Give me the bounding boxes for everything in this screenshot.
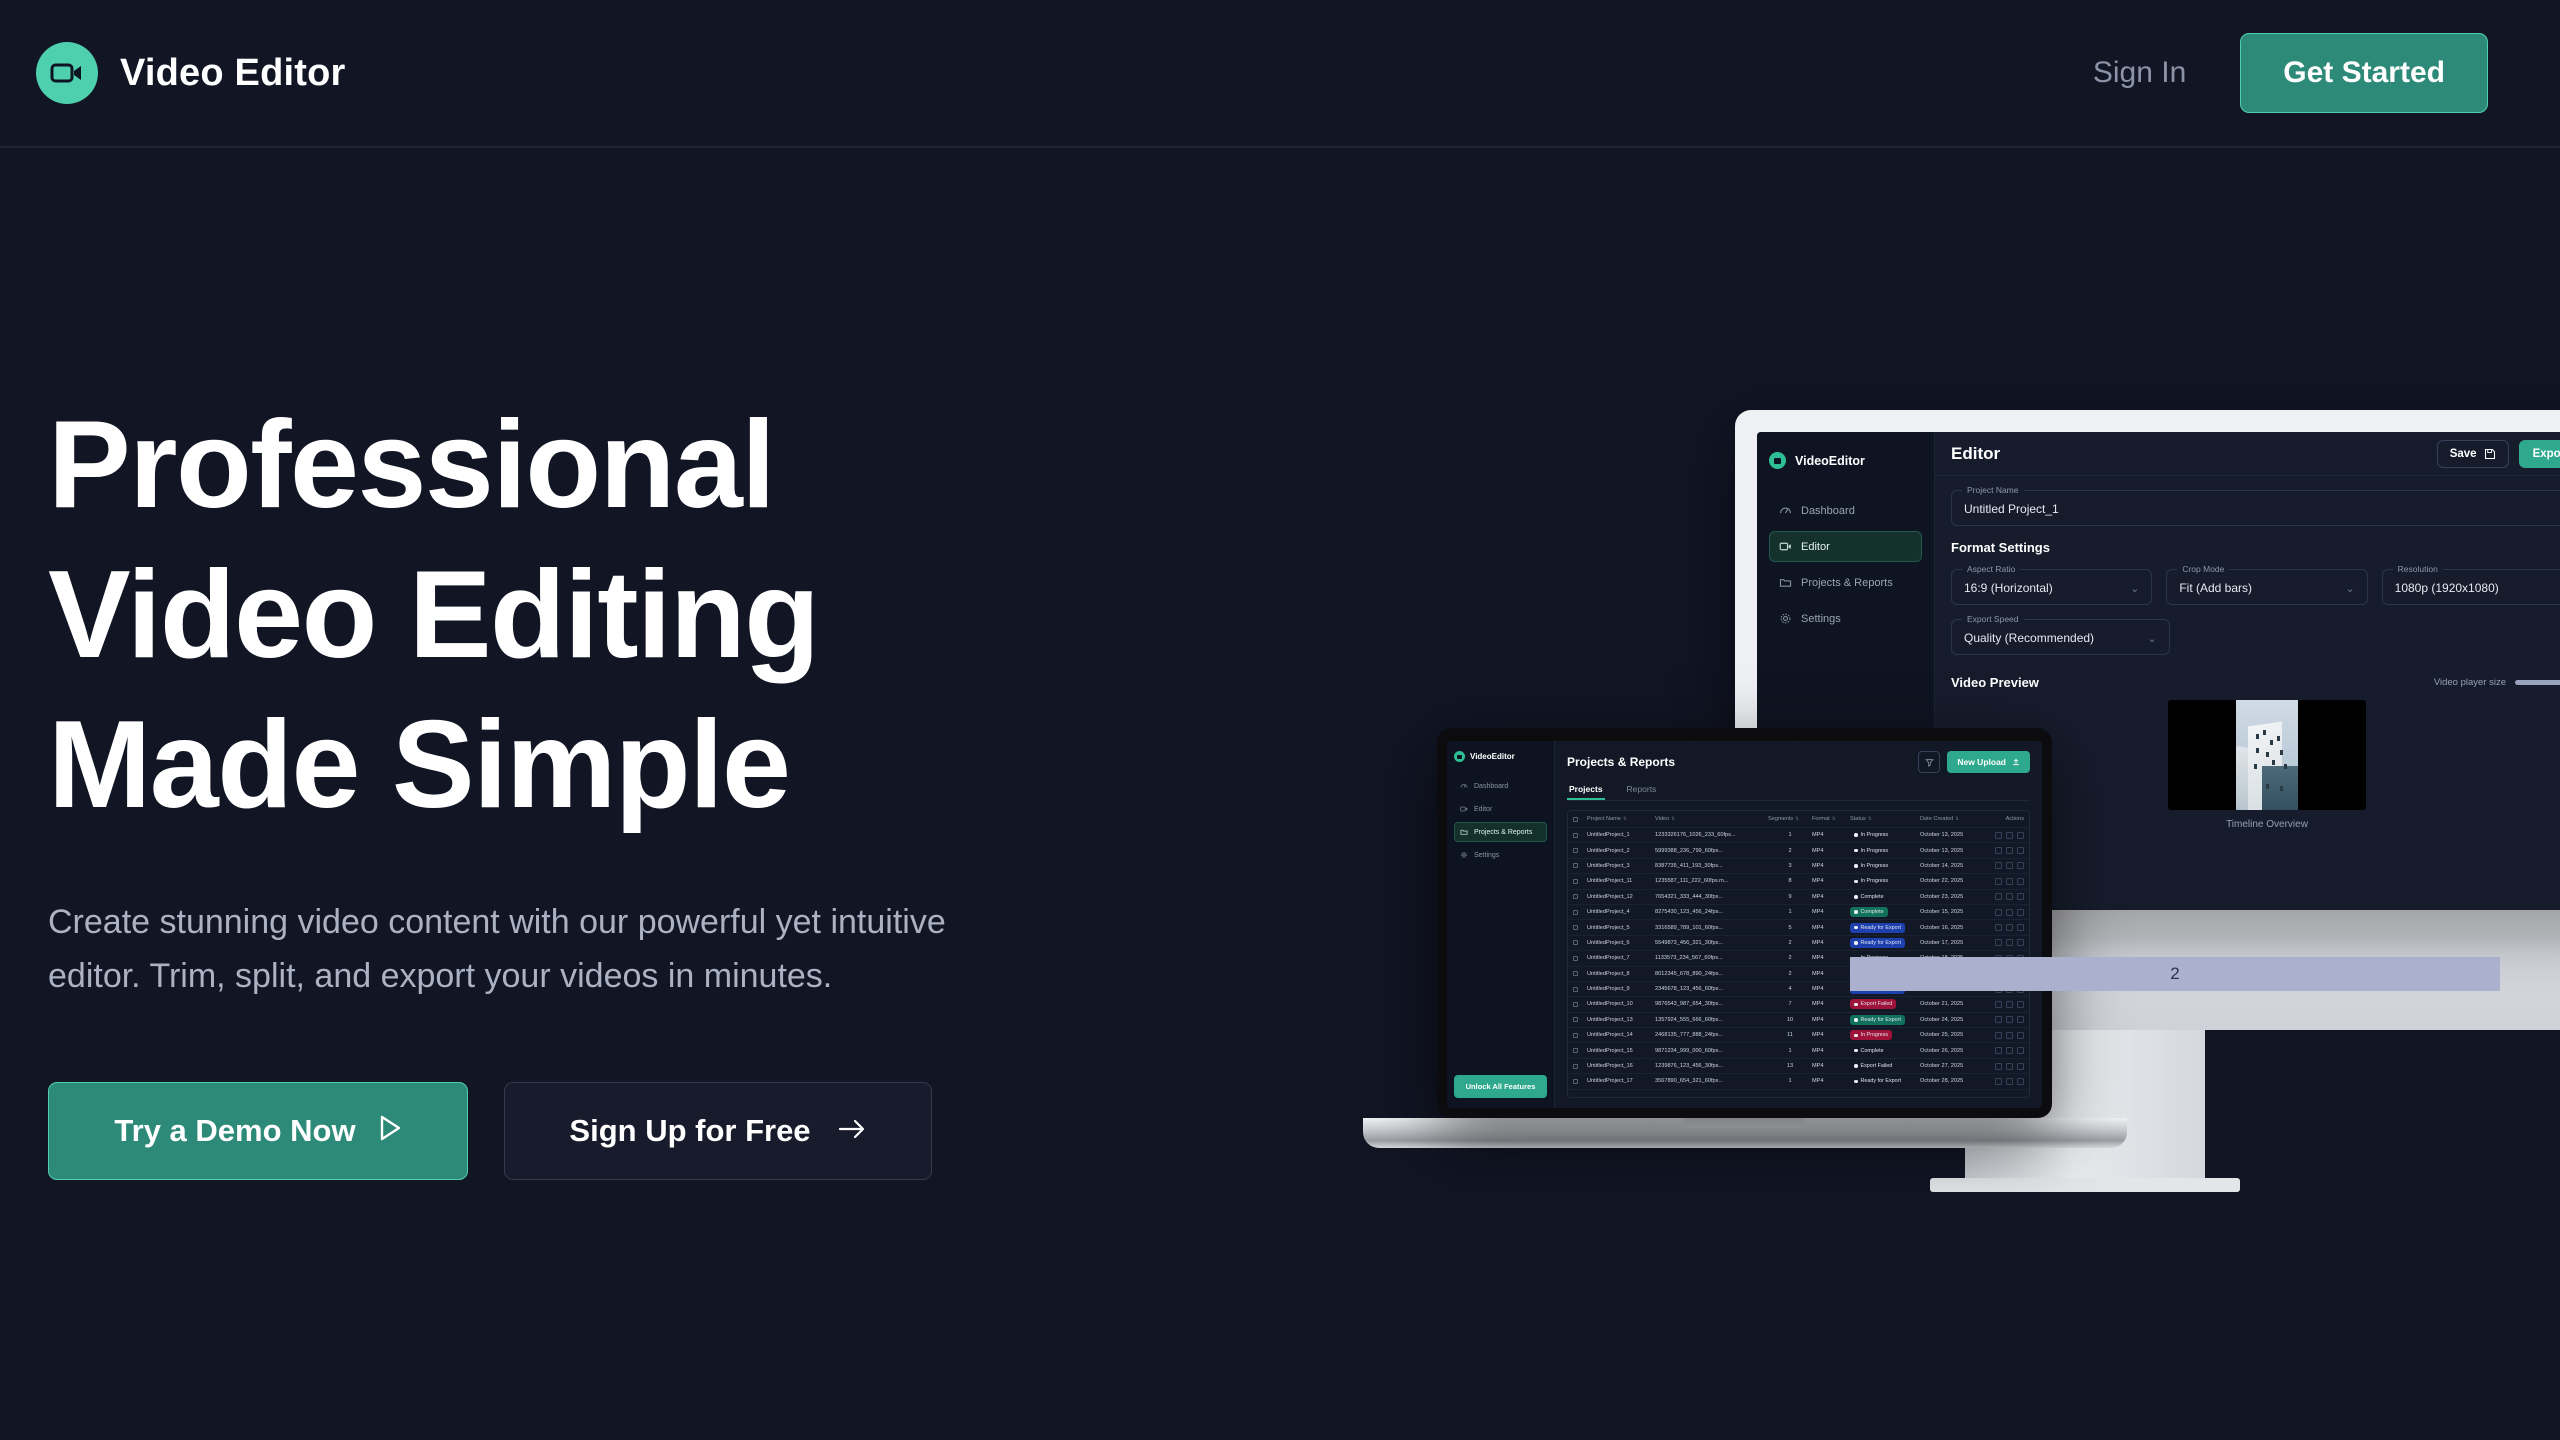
table-row[interactable]: UntitledProject_11233326176_1026_233_60f… — [1568, 828, 2029, 843]
sidebar-label: Projects & Reports — [1801, 577, 1893, 589]
cell-date-created: October 22, 2025 — [1920, 878, 1982, 884]
cell-segments: 2 — [1768, 955, 1812, 961]
aspect-ratio-select[interactable]: Aspect Ratio 16:9 (Horizontal) ⌄ — [1951, 569, 2152, 605]
table-row[interactable]: UntitledProject_173567890_654_321_60fps.… — [1568, 1074, 2029, 1089]
video-frame — [2236, 700, 2298, 810]
edit-icon[interactable] — [1995, 1032, 2002, 1039]
delete-icon[interactable] — [2017, 878, 2024, 885]
header-actions: Sign In Get Started — [2093, 33, 2524, 113]
cell-project-name: UntitledProject_1 — [1587, 832, 1655, 838]
cell-project-name: UntitledProject_7 — [1587, 955, 1655, 961]
status-badge: In Progress — [1850, 876, 1892, 886]
edit-icon[interactable] — [1995, 1063, 2002, 1070]
video-player-preview[interactable] — [2168, 700, 2366, 810]
cell-project-name: UntitledProject_8 — [1587, 971, 1655, 977]
project-name-label: Project Name — [1962, 485, 2024, 495]
upload-icon — [2012, 758, 2020, 766]
download-icon[interactable] — [2006, 909, 2013, 916]
brand[interactable]: Video Editor — [36, 42, 346, 104]
unlock-all-features-button[interactable]: Unlock All Features — [1454, 1075, 1547, 1098]
cell-video: 2468135_777_888_24fps... — [1655, 1032, 1768, 1038]
format-settings-row: Aspect Ratio 16:9 (Horizontal) ⌄ Crop Mo… — [1951, 569, 2560, 619]
row-checkbox[interactable] — [1573, 940, 1587, 945]
sidebar-item-editor[interactable]: Editor — [1454, 799, 1547, 819]
cell-status: Complete — [1850, 907, 1920, 917]
cell-actions — [1982, 862, 2024, 869]
cell-format: MP4 — [1812, 971, 1850, 977]
app-brand-label: VideoEditor — [1470, 752, 1515, 761]
cell-date-created: October 17, 2025 — [1920, 940, 1982, 946]
cell-actions — [1982, 893, 2024, 900]
download-icon[interactable] — [2006, 1032, 2013, 1039]
delete-icon[interactable] — [2017, 1016, 2024, 1023]
cell-segments: 4 — [1768, 986, 1812, 992]
chevron-down-icon: ⌄ — [2345, 582, 2354, 595]
filter-icon — [1925, 758, 1934, 767]
tab-projects[interactable]: Projects — [1567, 784, 1605, 800]
cell-status: In Progress — [1850, 1030, 1920, 1040]
cell-format: MP4 — [1812, 925, 1850, 931]
sign-up-button[interactable]: Sign Up for Free — [504, 1082, 932, 1180]
table-row[interactable]: UntitledProject_131357924_555_666_60fps.… — [1568, 1013, 2029, 1028]
cell-actions — [1982, 939, 2024, 946]
cell-date-created: October 28, 2025 — [1920, 1078, 1982, 1084]
edit-icon[interactable] — [1995, 878, 2002, 885]
row-checkbox[interactable] — [1573, 894, 1587, 899]
cell-video: 8012345_678_890_24fps... — [1655, 971, 1768, 977]
cell-status: Ready for Export — [1850, 923, 1920, 933]
sidebar-label: Settings — [1474, 852, 1499, 859]
delete-icon[interactable] — [2017, 847, 2024, 854]
status-badge: In Progress — [1850, 846, 1892, 856]
edit-icon[interactable] — [1995, 832, 2002, 839]
player-size-label: Video player size — [2434, 677, 2506, 688]
cell-date-created: October 21, 2025 — [1920, 1001, 1982, 1007]
cell-video: 3316589_789_101_60fps... — [1655, 925, 1768, 931]
download-icon[interactable] — [2006, 1016, 2013, 1023]
resolution-value: 1080p (1920x1080) — [2395, 581, 2499, 595]
cell-segments: 2 — [1768, 848, 1812, 854]
status-badge: Complete — [1850, 1046, 1888, 1056]
sidebar-item-dashboard[interactable]: Dashboard — [1769, 495, 1922, 526]
row-checkbox[interactable] — [1573, 987, 1587, 992]
export-button[interactable]: Export — [2519, 440, 2560, 468]
cell-status: In Progress — [1850, 876, 1920, 886]
row-checkbox[interactable] — [1573, 1017, 1587, 1022]
player-size-slider[interactable] — [2515, 680, 2560, 685]
edit-icon[interactable] — [1995, 847, 2002, 854]
cell-project-name: UntitledProject_17 — [1587, 1078, 1655, 1084]
edit-icon[interactable] — [1995, 1078, 2002, 1085]
export-label: Export — [2533, 448, 2560, 460]
download-icon[interactable] — [2006, 862, 2013, 869]
cell-segments: 1 — [1768, 832, 1812, 838]
table-row[interactable]: UntitledProject_159871234_999_000_60fps.… — [1568, 1043, 2029, 1058]
status-badge: Export Failed — [1850, 999, 1896, 1009]
cell-status: Complete — [1850, 892, 1920, 902]
sort-icon: ⇅ — [1832, 816, 1836, 822]
cell-project-name: UntitledProject_10 — [1587, 1001, 1655, 1007]
cell-video: 2345678_123_456_60fps... — [1655, 986, 1768, 992]
timeline-strip[interactable]: 2 — [1850, 957, 2500, 991]
edit-icon[interactable] — [1995, 1016, 2002, 1023]
app-brand: VideoEditor — [1454, 751, 1547, 762]
cell-format: MP4 — [1812, 1063, 1850, 1069]
cell-date-created: October 25, 2025 — [1920, 1032, 1982, 1038]
cell-project-name: UntitledProject_9 — [1587, 986, 1655, 992]
cell-date-created: October 13, 2025 — [1920, 832, 1982, 838]
projects-header-actions: New Upload — [1918, 751, 2030, 773]
table-row[interactable]: UntitledProject_25999388_236_799_60fps..… — [1568, 843, 2029, 858]
projects-nav: Dashboard Editor Projects & Reports Sett… — [1454, 776, 1547, 865]
status-badge: In Progress — [1850, 1030, 1892, 1040]
delete-icon[interactable] — [2017, 1078, 2024, 1085]
projects-page-title: Projects & Reports — [1567, 755, 1675, 769]
cell-format: MP4 — [1812, 848, 1850, 854]
table-row[interactable]: UntitledProject_38387735_411_193_30fps..… — [1568, 859, 2029, 874]
cell-project-name: UntitledProject_4 — [1587, 909, 1655, 915]
video-camera-icon — [36, 42, 98, 104]
cell-segments: 13 — [1768, 1063, 1812, 1069]
cell-project-name: UntitledProject_15 — [1587, 1048, 1655, 1054]
dashboard-icon — [1460, 782, 1468, 790]
cell-status: Ready for Export — [1850, 938, 1920, 948]
cell-format: MP4 — [1812, 955, 1850, 961]
delete-icon[interactable] — [2017, 832, 2024, 839]
app-brand-label: VideoEditor — [1795, 454, 1865, 468]
laptop-mockup: VideoEditor Dashboard Editor Projects & … — [1437, 728, 2052, 1118]
row-checkbox[interactable] — [1573, 1033, 1587, 1038]
video-camera-icon — [1454, 751, 1465, 762]
cell-segments: 2 — [1768, 940, 1812, 946]
page-title: Professional Video Editing Made Simple — [48, 390, 1148, 840]
download-icon[interactable] — [2006, 878, 2013, 885]
cell-actions — [1982, 847, 2024, 854]
cell-date-created: October 24, 2025 — [1920, 1017, 1982, 1023]
edit-icon[interactable] — [1995, 862, 2002, 869]
row-checkbox[interactable] — [1573, 925, 1587, 930]
cell-video: 9871234_999_000_60fps... — [1655, 1048, 1768, 1054]
cell-project-name: UntitledProject_3 — [1587, 863, 1655, 869]
tab-reports[interactable]: Reports — [1625, 784, 1659, 800]
status-badge: Ready for Export — [1850, 1015, 1905, 1025]
sidebar-label: Editor — [1474, 806, 1492, 813]
cell-actions — [1982, 909, 2024, 916]
cell-status: In Progress — [1850, 830, 1920, 840]
cell-actions — [1982, 1078, 2024, 1085]
projects-sidebar: VideoEditor Dashboard Editor Projects & … — [1447, 741, 1555, 1108]
sort-icon: ⇅ — [1671, 816, 1675, 822]
video-camera-icon — [1460, 805, 1468, 813]
cell-actions — [1982, 1047, 2024, 1054]
cell-segments: 1 — [1768, 909, 1812, 915]
folder-icon — [1779, 576, 1792, 589]
editor-topbar: Editor Save Export — [1935, 432, 2560, 476]
gear-icon — [1779, 612, 1792, 625]
crop-mode-label: Crop Mode — [2177, 564, 2229, 574]
cell-status: Export Failed — [1850, 999, 1920, 1009]
cell-format: MP4 — [1812, 940, 1850, 946]
crop-mode-value: Fit (Add bars) — [2179, 581, 2252, 595]
aspect-ratio-value: 16:9 (Horizontal) — [1964, 581, 2053, 595]
cell-video: 5999388_236_799_60fps... — [1655, 848, 1768, 854]
laptop-screen: VideoEditor Dashboard Editor Projects & … — [1447, 741, 2042, 1108]
cell-actions — [1982, 1001, 2024, 1008]
chevron-down-icon: ⌄ — [2130, 582, 2139, 595]
column-status[interactable]: Status⇅ — [1850, 816, 1920, 822]
download-icon[interactable] — [2006, 939, 2013, 946]
site-header: Video Editor Sign In Get Started — [0, 0, 2560, 148]
cell-format: MP4 — [1812, 1032, 1850, 1038]
download-icon[interactable] — [2006, 924, 2013, 931]
export-speed-row: Export Speed Quality (Recommended) ⌄ — [1951, 619, 2560, 669]
cell-segments: 10 — [1768, 1017, 1812, 1023]
sidebar-label: Dashboard — [1801, 505, 1855, 517]
arrow-right-icon — [837, 1113, 867, 1149]
try-demo-label: Try a Demo Now — [114, 1113, 355, 1149]
row-checkbox[interactable] — [1573, 879, 1587, 884]
video-preview-heading: Video Preview — [1951, 675, 2039, 690]
cell-segments: 5 — [1768, 925, 1812, 931]
cell-status: Ready for Export — [1850, 1015, 1920, 1025]
cell-segments: 7 — [1768, 1001, 1812, 1007]
table-header-row: Project Name⇅ Video⇅ Segments⇅ Format⇅ S… — [1568, 811, 2029, 828]
download-icon[interactable] — [2006, 1063, 2013, 1070]
sidebar-label: Projects & Reports — [1474, 829, 1532, 836]
cell-project-name: UntitledProject_16 — [1587, 1063, 1655, 1069]
gear-icon — [1460, 851, 1468, 859]
cell-date-created: October 16, 2025 — [1920, 925, 1982, 931]
monitor-foot — [1930, 1178, 2240, 1192]
download-icon[interactable] — [2006, 1001, 2013, 1008]
cell-status: Complete — [1850, 1046, 1920, 1056]
table-row[interactable]: UntitledProject_161239876_123_456_30fps.… — [1568, 1059, 2029, 1074]
video-camera-icon — [1779, 540, 1792, 553]
row-checkbox[interactable] — [1573, 1079, 1587, 1084]
new-upload-button[interactable]: New Upload — [1947, 751, 2030, 773]
laptop-trackpad-notch — [1684, 1118, 1804, 1128]
delete-icon[interactable] — [2017, 1032, 2024, 1039]
cell-video: 1133573_234_567_60fps... — [1655, 955, 1768, 961]
export-speed-value: Quality (Recommended) — [1964, 631, 2094, 645]
cell-project-name: UntitledProject_11 — [1587, 878, 1655, 884]
dashboard-icon — [1779, 504, 1792, 517]
project-name-field[interactable]: Project Name Untitled Project_1 — [1951, 490, 2560, 526]
video-camera-icon — [1769, 452, 1786, 469]
download-icon[interactable] — [2006, 1047, 2013, 1054]
laptop-camera-notch — [1691, 728, 1799, 741]
player-size-control[interactable]: Video player size — [2434, 677, 2560, 688]
cell-project-name: UntitledProject_12 — [1587, 894, 1655, 900]
delete-icon[interactable] — [2017, 1001, 2024, 1008]
aspect-ratio-label: Aspect Ratio — [1962, 564, 2020, 574]
hero-section: Professional Video Editing Made Simple C… — [48, 390, 1148, 1180]
cell-actions — [1982, 1016, 2024, 1023]
cell-video: 8275430_123_456_24fps... — [1655, 909, 1768, 915]
cell-actions — [1982, 924, 2024, 931]
table-row[interactable]: UntitledProject_53316589_789_101_60fps..… — [1568, 920, 2029, 935]
table-row[interactable]: UntitledProject_142468135_777_888_24fps.… — [1568, 1028, 2029, 1043]
column-select-all[interactable] — [1573, 817, 1587, 822]
cell-date-created: October 13, 2025 — [1920, 848, 1982, 854]
save-button[interactable]: Save — [2437, 440, 2509, 468]
cell-format: MP4 — [1812, 1001, 1850, 1007]
status-badge: Complete — [1850, 892, 1888, 902]
cell-segments: 9 — [1768, 894, 1812, 900]
delete-icon[interactable] — [2017, 939, 2024, 946]
row-checkbox[interactable] — [1573, 1048, 1587, 1053]
cell-date-created: October 14, 2025 — [1920, 863, 1982, 869]
projects-tabs: Projects Reports — [1567, 784, 2030, 801]
sidebar-item-projects-reports[interactable]: Projects & Reports — [1769, 567, 1922, 598]
brand-name: Video Editor — [120, 52, 346, 95]
hero-subtitle: Create stunning video content with our p… — [48, 896, 1138, 1003]
cell-project-name: UntitledProject_5 — [1587, 925, 1655, 931]
delete-icon[interactable] — [2017, 909, 2024, 916]
cell-video: 1233326176_1026_233_60fps... — [1655, 832, 1768, 838]
save-label: Save — [2450, 448, 2477, 460]
cell-project-name: UntitledProject_14 — [1587, 1032, 1655, 1038]
row-checkbox[interactable] — [1573, 863, 1587, 868]
table-row[interactable]: UntitledProject_111235587_111_222_60fps.… — [1568, 874, 2029, 889]
row-checkbox[interactable] — [1573, 848, 1587, 853]
sidebar-label: Editor — [1801, 541, 1830, 553]
cell-video: 5549873_456_321_30fps... — [1655, 940, 1768, 946]
sidebar-item-dashboard[interactable]: Dashboard — [1454, 776, 1547, 796]
video-preview-header: Video Preview Video player size — [1951, 675, 2560, 690]
sign-in-link[interactable]: Sign In — [2093, 56, 2186, 90]
cell-project-name: UntitledProject_6 — [1587, 940, 1655, 946]
delete-icon[interactable] — [2017, 1047, 2024, 1054]
edit-icon[interactable] — [1995, 1001, 2002, 1008]
download-icon[interactable] — [2006, 832, 2013, 839]
cell-format: MP4 — [1812, 878, 1850, 884]
cell-video: 8387735_411_193_30fps... — [1655, 863, 1768, 869]
cell-format: MP4 — [1812, 863, 1850, 869]
row-checkbox[interactable] — [1573, 956, 1587, 961]
cell-segments: 11 — [1768, 1032, 1812, 1038]
sidebar-item-settings[interactable]: Settings — [1769, 603, 1922, 634]
status-badge: In Progress — [1850, 830, 1892, 840]
crop-mode-select[interactable]: Crop Mode Fit (Add bars) ⌄ — [2166, 569, 2367, 605]
column-segments[interactable]: Segments⇅ — [1768, 816, 1812, 822]
row-checkbox[interactable] — [1573, 833, 1587, 838]
sidebar-label: Dashboard — [1474, 783, 1508, 790]
editor-page-title: Editor — [1951, 444, 2000, 464]
column-project-name[interactable]: Project Name⇅ — [1587, 816, 1655, 822]
sort-icon: ⇅ — [1955, 816, 1959, 822]
format-settings-heading: Format Settings — [1951, 540, 2560, 555]
cell-segments: 8 — [1768, 878, 1812, 884]
download-icon[interactable] — [2006, 847, 2013, 854]
editor-topbar-actions: Save Export — [2437, 440, 2560, 468]
status-badge: Ready for Export — [1850, 1076, 1905, 1086]
status-badge: Ready for Export — [1850, 923, 1905, 933]
export-speed-select[interactable]: Export Speed Quality (Recommended) ⌄ — [1951, 619, 2170, 655]
projects-table: Project Name⇅ Video⇅ Segments⇅ Format⇅ S… — [1567, 810, 2030, 1098]
editor-nav: Dashboard Editor Projects & Reports Sett… — [1769, 495, 1922, 634]
cell-segments: 2 — [1768, 971, 1812, 977]
download-icon[interactable] — [2006, 893, 2013, 900]
delete-icon[interactable] — [2017, 924, 2024, 931]
status-badge: Complete — [1850, 907, 1888, 917]
table-row[interactable]: UntitledProject_109876543_987_654_30fps.… — [1568, 997, 2029, 1012]
cell-project-name: UntitledProject_2 — [1587, 848, 1655, 854]
table-row[interactable]: UntitledProject_127654321_333_444_30fps.… — [1568, 890, 2029, 905]
column-date-created[interactable]: Date Created⇅ — [1920, 816, 1982, 822]
cell-format: MP4 — [1812, 1078, 1850, 1084]
edit-icon[interactable] — [1995, 924, 2002, 931]
delete-icon[interactable] — [2017, 893, 2024, 900]
cell-video: 1239876_123_456_30fps... — [1655, 1063, 1768, 1069]
cell-video: 1357924_555_666_60fps... — [1655, 1017, 1768, 1023]
delete-icon[interactable] — [2017, 1063, 2024, 1070]
row-checkbox[interactable] — [1573, 910, 1587, 915]
sidebar-label: Settings — [1801, 613, 1841, 625]
cell-status: Export Failed — [1850, 1061, 1920, 1071]
new-upload-label: New Upload — [1957, 757, 2006, 767]
row-checkbox[interactable] — [1573, 1064, 1587, 1069]
table-row[interactable]: UntitledProject_65549873_456_321_30fps..… — [1568, 936, 2029, 951]
cell-project-name: UntitledProject_13 — [1587, 1017, 1655, 1023]
cell-format: MP4 — [1812, 894, 1850, 900]
cell-date-created: October 27, 2025 — [1920, 1063, 1982, 1069]
cell-format: MP4 — [1812, 1048, 1850, 1054]
cell-date-created: October 26, 2025 — [1920, 1048, 1982, 1054]
filter-button[interactable] — [1918, 751, 1940, 773]
sort-icon: ⇅ — [1623, 816, 1627, 822]
sort-icon: ⇅ — [1795, 816, 1799, 822]
cell-actions — [1982, 1032, 2024, 1039]
cell-video: 1235587_111_222_60fps.m... — [1655, 878, 1768, 884]
cell-date-created: October 15, 2025 — [1920, 909, 1982, 915]
row-checkbox[interactable] — [1573, 971, 1587, 976]
cell-date-created: October 23, 2025 — [1920, 894, 1982, 900]
column-format[interactable]: Format⇅ — [1812, 816, 1850, 822]
delete-icon[interactable] — [2017, 862, 2024, 869]
resolution-select[interactable]: Resolution 1080p (1920x1080) ⌄ — [2382, 569, 2560, 605]
resolution-label: Resolution — [2393, 564, 2443, 574]
edit-icon[interactable] — [1995, 1047, 2002, 1054]
timeline-number: 2 — [2170, 964, 2179, 984]
table-row[interactable]: UntitledProject_48275430_123_456_24fps..… — [1568, 905, 2029, 920]
save-disk-icon — [2484, 448, 2496, 460]
cell-format: MP4 — [1812, 1017, 1850, 1023]
projects-header: Projects & Reports New Upload — [1567, 751, 2030, 773]
sidebar-item-settings[interactable]: Settings — [1454, 845, 1547, 865]
cell-status: In Progress — [1850, 846, 1920, 856]
edit-icon[interactable] — [1995, 893, 2002, 900]
cell-status: In Progress — [1850, 861, 1920, 871]
sidebar-item-editor[interactable]: Editor — [1769, 531, 1922, 562]
cell-video: 7654321_333_444_30fps... — [1655, 894, 1768, 900]
edit-icon[interactable] — [1995, 909, 2002, 916]
cell-format: MP4 — [1812, 986, 1850, 992]
sidebar-item-projects-reports[interactable]: Projects & Reports — [1454, 822, 1547, 842]
play-icon — [378, 1113, 402, 1149]
export-speed-label: Export Speed — [1962, 614, 2024, 624]
cell-format: MP4 — [1812, 832, 1850, 838]
edit-icon[interactable] — [1995, 939, 2002, 946]
get-started-button[interactable]: Get Started — [2240, 33, 2488, 113]
status-badge: Export Failed — [1850, 1061, 1896, 1071]
column-video[interactable]: Video⇅ — [1655, 816, 1768, 822]
try-demo-button[interactable]: Try a Demo Now — [48, 1082, 468, 1180]
row-checkbox[interactable] — [1573, 1002, 1587, 1007]
cell-segments: 1 — [1768, 1078, 1812, 1084]
cell-actions — [1982, 1063, 2024, 1070]
download-icon[interactable] — [2006, 1078, 2013, 1085]
